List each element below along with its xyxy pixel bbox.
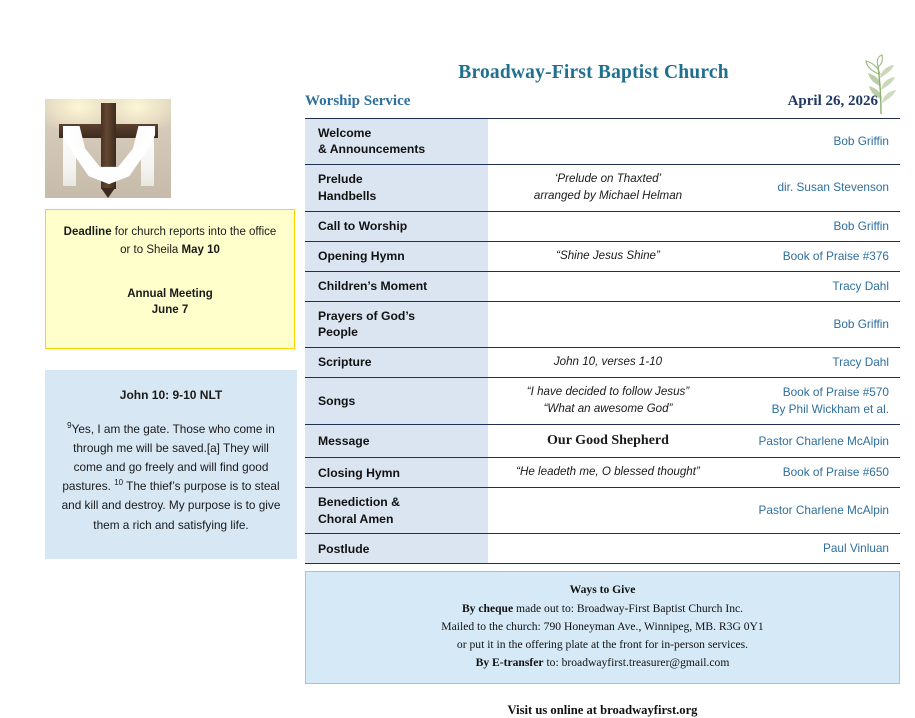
service-item-person-line: Pastor Charlene McAlpin: [732, 502, 889, 519]
service-item-label: PreludeHandbells: [305, 164, 488, 211]
service-item-person: Pastor Charlene McAlpin: [728, 425, 900, 458]
service-item-person-line: Book of Praise #570: [732, 384, 889, 401]
service-item-label: Call to Worship: [305, 211, 488, 241]
service-item-person-line: dir. Susan Stevenson: [732, 179, 889, 196]
service-row: Children’s MomentTracy Dahl: [305, 271, 900, 301]
service-item-person-line: Book of Praise #650: [732, 464, 889, 481]
service-row: Opening Hymn“Shine Jesus Shine”Book of P…: [305, 241, 900, 271]
cross-with-white-drape-photo: [45, 99, 171, 198]
ways-to-give-title: Ways to Give: [316, 581, 889, 599]
service-row: PostludePaul Vinluan: [305, 534, 900, 564]
left-sidebar: Deadline for church reports into the off…: [45, 99, 297, 559]
service-item-detail: [488, 119, 728, 165]
service-item-person: Book of Praise #570By Phil Wickham et al…: [728, 377, 900, 424]
service-item-person: Bob Griffin: [728, 301, 900, 347]
service-item-detail-line: arranged by Michael Helman: [492, 188, 724, 205]
service-item-label-line: Scripture: [318, 354, 488, 370]
service-item-person: Pastor Charlene McAlpin: [728, 488, 900, 534]
service-item-label-line: Handbells: [318, 188, 488, 204]
service-row: Songs“I have decided to follow Jesus”“Wh…: [305, 377, 900, 424]
service-item-detail: ‘Prelude on Thaxted’arranged by Michael …: [488, 164, 728, 211]
service-item-label-line: Songs: [318, 393, 488, 409]
service-item-label-line: Choral Amen: [318, 511, 488, 527]
scripture-box: John 10: 9-10 NLT 9Yes, I am the gate. T…: [45, 370, 297, 559]
service-item-label: Closing Hymn: [305, 458, 488, 488]
service-item-detail-line: ‘Prelude on Thaxted’: [492, 171, 724, 188]
service-item-label: Welcome& Announcements: [305, 119, 488, 165]
service-item-detail: [488, 301, 728, 347]
deadline-date: May 10: [182, 244, 220, 256]
service-item-person-line: Paul Vinluan: [732, 540, 889, 557]
service-item-person: Tracy Dahl: [728, 347, 900, 377]
service-item-detail: John 10, verses 1-10: [488, 347, 728, 377]
service-item-person-line: Pastor Charlene McAlpin: [732, 433, 889, 450]
service-label: Worship Service: [305, 93, 410, 110]
service-item-label: Scripture: [305, 347, 488, 377]
service-item-detail: “He leadeth me, O blessed thought”: [488, 458, 728, 488]
service-item-person-line: Book of Praise #376: [732, 248, 889, 265]
deadline-line2-pre: or to Sheila: [120, 244, 181, 256]
visit-online-footer: Visit us online at broadwayfirst.org: [305, 703, 900, 718]
announcement-box: Deadline for church reports into the off…: [45, 209, 295, 349]
service-item-person: Bob Griffin: [728, 211, 900, 241]
service-item-label-line: Prayers of God’s: [318, 308, 488, 324]
service-item-detail: [488, 271, 728, 301]
service-item-detail-line: “He leadeth me, O blessed thought”: [492, 464, 724, 481]
service-item-detail: [488, 534, 728, 564]
annual-meeting-title: Annual Meeting: [57, 286, 283, 303]
service-item-detail: [488, 488, 728, 534]
ways-to-give-box: Ways to Give By cheque made out to: Broa…: [305, 571, 900, 684]
service-item-detail: “Shine Jesus Shine”: [488, 241, 728, 271]
service-item-label: Opening Hymn: [305, 241, 488, 271]
header-subline: Worship Service April 26, 2026: [305, 93, 900, 110]
service-item-person-line: Tracy Dahl: [732, 354, 889, 371]
annual-meeting-date: June 7: [57, 302, 283, 319]
service-row: Closing Hymn“He leadeth me, O blessed th…: [305, 458, 900, 488]
give-mailing-address: Mailed to the church: 790 Honeyman Ave.,…: [316, 618, 889, 636]
give-offering-plate: or put it in the offering plate at the f…: [316, 636, 889, 654]
page-title: Broadway-First Baptist Church: [305, 62, 900, 84]
service-item-label: Prayers of God’sPeople: [305, 301, 488, 347]
service-item-label-line: People: [318, 324, 488, 340]
order-of-service-table: Welcome& AnnouncementsBob GriffinPrelude…: [305, 118, 900, 564]
verse-number-10: 10: [114, 478, 123, 487]
service-item-label: Children’s Moment: [305, 271, 488, 301]
give-by-cheque-line: By cheque made out to: Broadway-First Ba…: [316, 600, 889, 618]
service-item-label-line: Postlude: [318, 541, 488, 557]
service-item-person: Paul Vinluan: [728, 534, 900, 564]
service-item-person-line: Bob Griffin: [732, 316, 889, 333]
bulletin-header: Broadway-First Baptist Church Worship Se…: [305, 62, 900, 118]
order-of-service-body: Welcome& AnnouncementsBob GriffinPrelude…: [305, 119, 900, 564]
service-item-person: Bob Griffin: [728, 119, 900, 165]
service-row: Call to WorshipBob Griffin: [305, 211, 900, 241]
give-cheque-text: made out to: Broadway-First Baptist Chur…: [513, 602, 743, 615]
service-item-label-line: Message: [318, 433, 488, 449]
give-cheque-label: By cheque: [462, 602, 513, 615]
service-item-detail-line: Our Good Shepherd: [492, 431, 724, 451]
service-item-person: Tracy Dahl: [728, 271, 900, 301]
deadline-text: for church reports into the office: [112, 226, 277, 238]
service-item-person: Book of Praise #650: [728, 458, 900, 488]
deadline-keyword: Deadline: [64, 226, 112, 238]
service-row: Prayers of God’sPeopleBob Griffin: [305, 301, 900, 347]
service-row: Benediction &Choral AmenPastor Charlene …: [305, 488, 900, 534]
service-item-label: Benediction &Choral Amen: [305, 488, 488, 534]
service-item-label: Message: [305, 425, 488, 458]
service-item-person-line: Bob Griffin: [732, 133, 889, 150]
give-etransfer-label: By E-transfer: [476, 656, 544, 669]
service-item-label-line: Prelude: [318, 171, 488, 187]
service-item-person-line: Tracy Dahl: [732, 278, 889, 295]
service-item-label-line: Closing Hymn: [318, 465, 488, 481]
leaf-sprig-icon: [857, 54, 903, 116]
service-row: MessageOur Good ShepherdPastor Charlene …: [305, 425, 900, 458]
give-etransfer-text: to: broadwayfirst.treasurer@gmail.com: [544, 656, 730, 669]
service-item-label-line: Benediction &: [318, 494, 488, 510]
service-item-detail-line: John 10, verses 1-10: [492, 354, 724, 371]
scripture-passage: 9Yes, I am the gate. Those who come in t…: [59, 420, 283, 535]
service-item-detail-line: “Shine Jesus Shine”: [492, 248, 724, 265]
service-item-detail: “I have decided to follow Jesus”“What an…: [488, 377, 728, 424]
service-item-label-line: Call to Worship: [318, 218, 488, 234]
service-row: ScriptureJohn 10, verses 1-10Tracy Dahl: [305, 347, 900, 377]
annual-meeting-announcement: Annual Meeting June 7: [57, 286, 283, 319]
service-item-person: dir. Susan Stevenson: [728, 164, 900, 211]
service-item-detail: Our Good Shepherd: [488, 425, 728, 458]
give-by-etransfer-line: By E-transfer to: broadwayfirst.treasure…: [316, 654, 889, 672]
service-item-person-line: By Phil Wickham et al.: [732, 401, 889, 418]
service-item-label: Postlude: [305, 534, 488, 564]
service-item-person-line: Bob Griffin: [732, 218, 889, 235]
service-item-label: Songs: [305, 377, 488, 424]
service-row: Welcome& AnnouncementsBob Griffin: [305, 119, 900, 165]
service-row: PreludeHandbells‘Prelude on Thaxted’arra…: [305, 164, 900, 211]
service-item-detail: [488, 211, 728, 241]
bulletin-main: Broadway-First Baptist Church Worship Se…: [305, 62, 900, 718]
scripture-reference: John 10: 9-10 NLT: [59, 388, 283, 402]
service-item-label-line: & Announcements: [318, 141, 488, 157]
service-item-label-line: Children’s Moment: [318, 278, 488, 294]
deadline-announcement: Deadline for church reports into the off…: [57, 224, 283, 260]
service-item-person: Book of Praise #376: [728, 241, 900, 271]
service-item-label-line: Opening Hymn: [318, 248, 488, 264]
service-item-detail-line: “I have decided to follow Jesus”: [492, 384, 724, 401]
service-item-label-line: Welcome: [318, 125, 488, 141]
service-item-detail-line: “What an awesome God”: [492, 401, 724, 418]
